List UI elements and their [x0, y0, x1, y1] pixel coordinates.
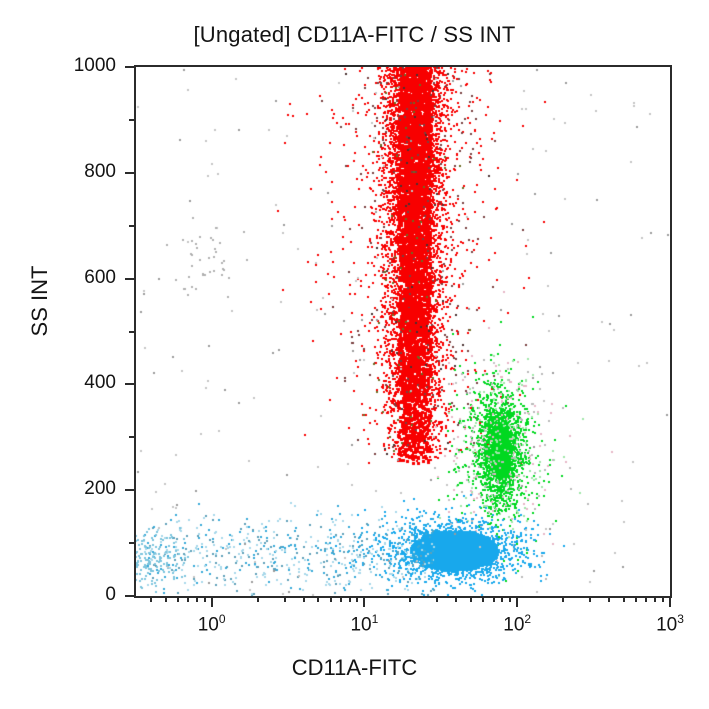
- y-tick-label: 0: [24, 584, 116, 606]
- page-title: [Ungated] CD11A-FITC / SS INT: [0, 22, 709, 48]
- y-axis-title: SS INT: [27, 221, 53, 381]
- x-tick-label: 100: [198, 612, 226, 636]
- scatter-point-canvas: [136, 67, 670, 596]
- x-tick-label: 101: [350, 612, 378, 636]
- y-tick-label: 200: [24, 478, 116, 500]
- y-tick-label: 600: [24, 267, 116, 289]
- plot-area: [134, 65, 672, 598]
- x-tick-label: 103: [656, 612, 684, 636]
- x-tick-label: 102: [503, 612, 531, 636]
- y-tick-label: 800: [24, 161, 116, 183]
- scatter-plot-figure: [Ungated] CD11A-FITC / SS INT SS INT CD1…: [0, 0, 709, 709]
- x-axis-title: CD11A-FITC: [0, 655, 709, 681]
- y-tick-label: 1000: [24, 55, 116, 77]
- y-tick-label: 400: [24, 372, 116, 394]
